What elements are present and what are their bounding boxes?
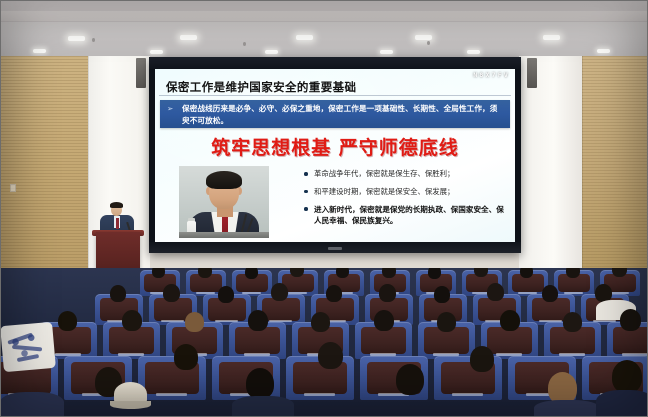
audience-cap	[114, 382, 147, 406]
ceiling-sensor-icon	[92, 38, 95, 42]
screen-indicator-icon	[328, 247, 342, 250]
audience-shoulders	[232, 396, 294, 417]
audience-head	[174, 344, 198, 370]
audience-head	[542, 285, 558, 302]
audience-head	[563, 312, 582, 332]
audience-head	[152, 268, 165, 278]
audience-head	[428, 268, 441, 279]
presenter-necktie	[116, 218, 119, 229]
screen-watermark: N8X7FV	[473, 71, 510, 79]
slide-title: 保密工作是维护国家安全的重要基础	[166, 79, 356, 95]
ceiling-downlight	[415, 35, 432, 40]
audience-head	[520, 268, 533, 278]
audience-head	[198, 268, 212, 278]
audience-head	[434, 286, 450, 303]
audience-head	[566, 268, 580, 278]
wall-panel-wood-right	[582, 56, 648, 284]
ceiling-light-band	[0, 22, 648, 59]
audience-head	[379, 284, 396, 302]
audience-head	[396, 364, 424, 395]
slide-bullet-list: 革命战争年代，保密就是保生存、保胜利； 和平建设时期，保密就是保安全、保发展； …	[303, 169, 508, 233]
wall-socket	[10, 184, 16, 192]
audience-head	[110, 285, 126, 302]
audience-head	[487, 283, 504, 301]
audience-shoulders	[0, 392, 64, 417]
ceiling-downlight	[380, 50, 393, 54]
wall-speaker-left	[136, 58, 146, 88]
lecture-hall-photo: 保密工作是维护国家安全的重要基础 ➢ 保密战线历来是必争、必守、必保之重地，保密…	[0, 0, 648, 417]
projection-screen: 保密工作是维护国家安全的重要基础 ➢ 保密战线历来是必争、必守、必保之重地，保密…	[149, 57, 521, 253]
audience-head	[218, 286, 234, 303]
audience-patterned-bag	[0, 322, 56, 372]
wall-panel-white-right	[519, 56, 582, 284]
bullet-dot-icon	[304, 190, 308, 194]
ceiling-downlight	[265, 50, 278, 54]
arrow-bullet-icon: ➢	[167, 105, 173, 113]
ceiling-downlight	[543, 35, 560, 40]
audience-head	[271, 283, 288, 301]
list-item: 和平建设时期，保密就是保安全、保发展；	[303, 187, 508, 198]
audience-head	[382, 268, 396, 278]
audience-head	[185, 312, 204, 332]
list-item-text: 革命战争年代，保密就是保生存、保胜利；	[314, 169, 454, 178]
list-item: 进入新时代，保密就是保党的长期执政、保国家安全、保人民幸福、保民族复兴。	[303, 204, 508, 226]
audience-head	[612, 360, 642, 393]
ceiling-sensor-icon	[243, 42, 246, 46]
ceiling-downlight	[150, 50, 163, 54]
slide-callout-text: 保密战线历来是必争、必守、必保之重地，保密工作是一项基础性、长期性、全局性工作，…	[182, 103, 505, 126]
wall-speaker-right	[527, 58, 537, 88]
ceiling-downlight	[296, 35, 313, 40]
screen-bezel-top	[149, 57, 521, 69]
ceiling-downlight	[68, 36, 85, 41]
list-item-text: 和平建设时期，保密就是保安全、保发展；	[314, 187, 454, 196]
ceiling-downlight	[33, 49, 46, 53]
title-divider	[159, 95, 511, 96]
audience-shoulders	[596, 390, 648, 417]
ceiling-downlight	[467, 50, 480, 54]
slide-portrait-photo	[179, 166, 269, 238]
portrait-desk	[179, 232, 269, 238]
presenter-hair	[110, 202, 123, 208]
audience-head	[311, 312, 330, 332]
presentation-slide: 保密工作是维护国家安全的重要基础 ➢ 保密战线历来是必争、必守、必保之重地，保密…	[155, 69, 515, 242]
bullet-dot-icon	[304, 172, 308, 176]
slide-headline: 筑牢思想根基 严守师德底线	[155, 133, 515, 160]
audience-head	[245, 268, 258, 279]
audience-head	[500, 310, 520, 331]
list-item: 革命战争年代，保密就是保生存、保胜利；	[303, 169, 508, 180]
ceiling-sensor-icon	[427, 41, 430, 45]
audience-head	[374, 310, 394, 331]
audience-seating-area	[0, 268, 648, 417]
audience-head	[246, 368, 274, 399]
ceiling-soffit	[0, 11, 648, 21]
wall-seam	[582, 56, 583, 284]
slide-callout-bar: ➢ 保密战线历来是必争、必守、必保之重地，保密工作是一项基础性、长期性、全局性工…	[160, 100, 510, 128]
audience-head	[318, 342, 343, 369]
portrait-hair	[206, 171, 242, 189]
audience-head	[248, 310, 268, 331]
ceiling-downlight	[180, 35, 197, 40]
wall-panel-wood-left	[0, 56, 88, 284]
audience-head	[163, 284, 180, 302]
audience-head	[326, 285, 342, 302]
ceiling-downlight	[597, 49, 610, 53]
audience-head	[122, 310, 142, 331]
bullet-dot-icon	[304, 207, 308, 211]
audience-head	[620, 309, 641, 331]
audience-head	[437, 312, 456, 332]
list-item-text: 进入新时代，保密就是保党的长期执政、保国家安全、保人民幸福、保民族复兴。	[314, 205, 504, 225]
audience-head	[58, 311, 77, 331]
screen-bezel-bottom	[149, 242, 521, 253]
audience-shoulders	[534, 400, 600, 417]
audience-head	[336, 268, 349, 278]
audience-head	[470, 346, 494, 372]
